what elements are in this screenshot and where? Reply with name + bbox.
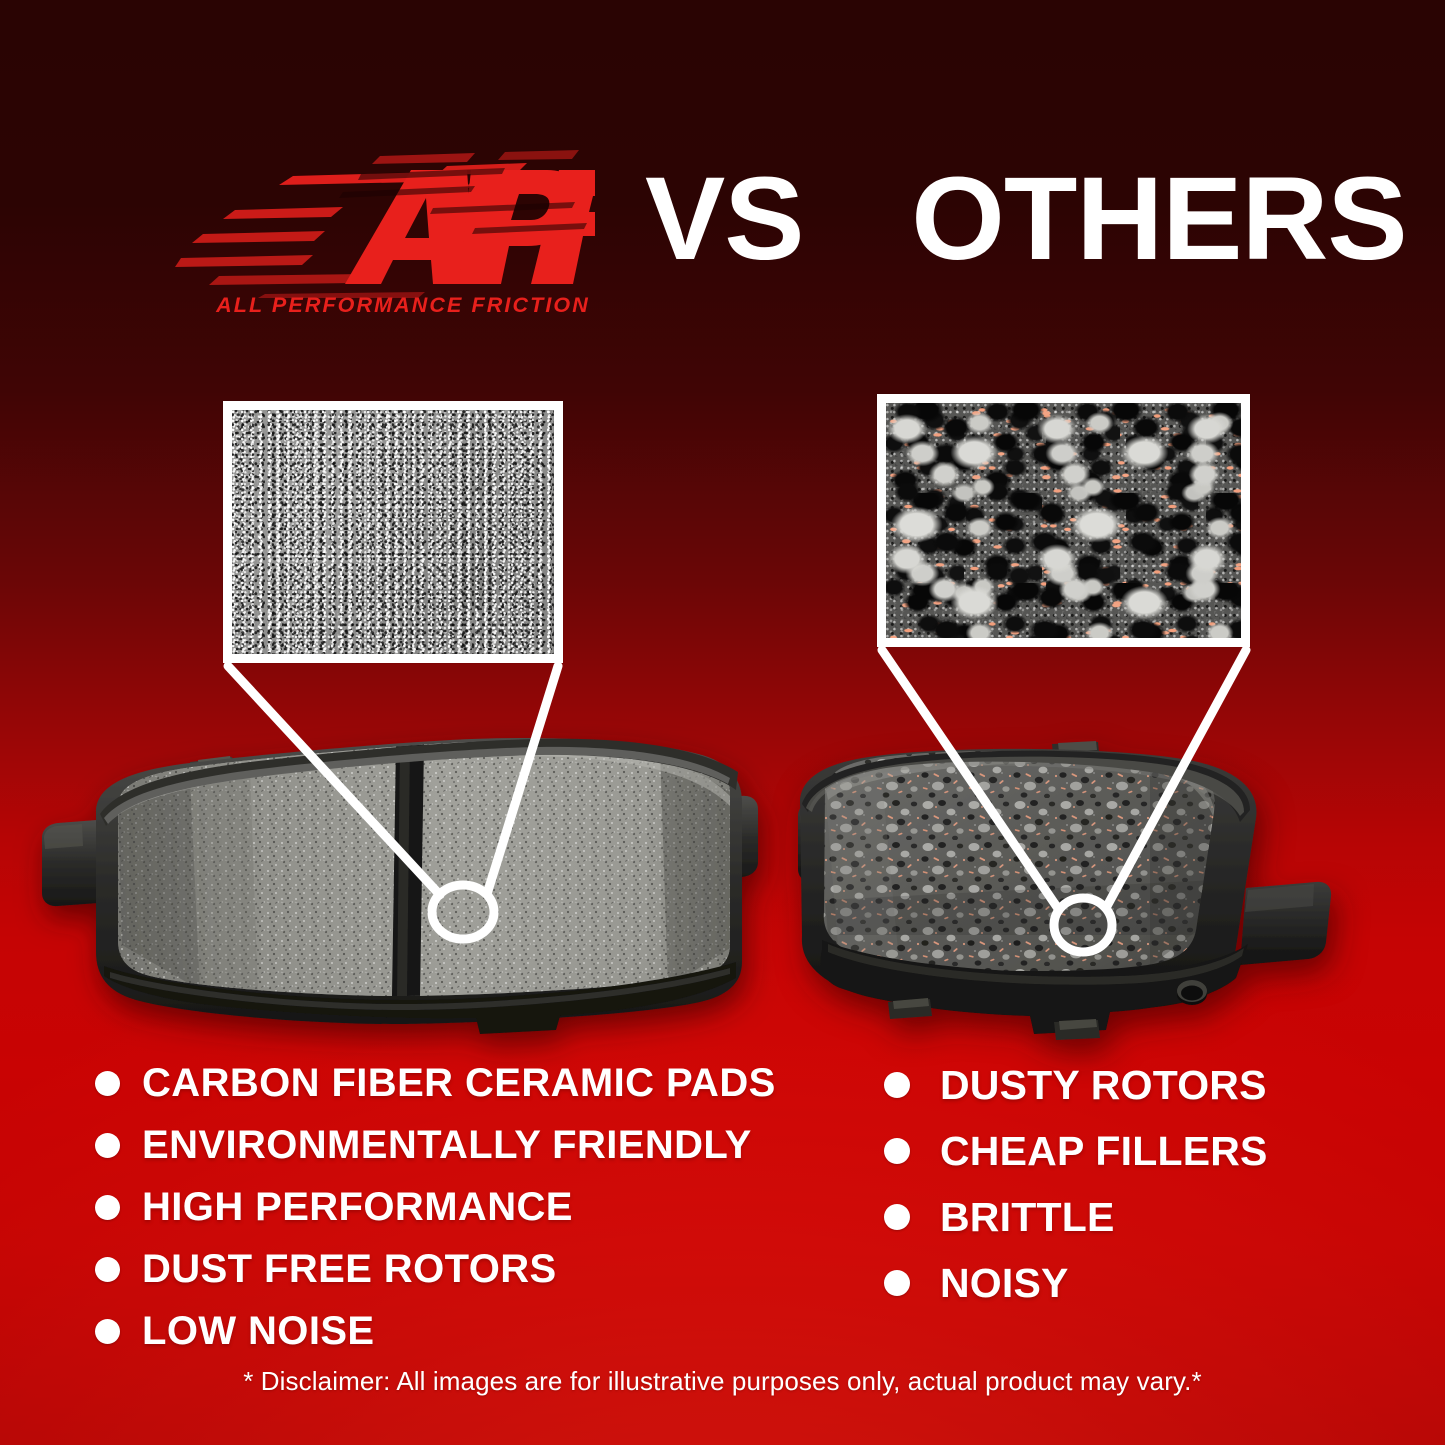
- bullet-dot-icon: [884, 1270, 910, 1296]
- list-item: DUSTY ROTORS: [884, 1052, 1384, 1118]
- bullet-dot-icon: [95, 1195, 120, 1220]
- feature-label: LOW NOISE: [142, 1310, 375, 1352]
- feature-label: ENVIRONMENTALLY FRIENDLY: [142, 1124, 752, 1166]
- competitor-brake-pad: [798, 740, 1331, 1040]
- list-item: CARBON FIBER CERAMIC PADS: [95, 1052, 835, 1114]
- apf-feature-list: CARBON FIBER CERAMIC PADS ENVIRONMENTALL…: [95, 1052, 835, 1362]
- feature-label: BRITTLE: [940, 1196, 1115, 1238]
- apf-brake-pad: [42, 735, 758, 1034]
- feature-label: NOISY: [940, 1262, 1069, 1304]
- others-feature-list: DUSTY ROTORS CHEAP FILLERS BRITTLE NOISY: [884, 1052, 1384, 1316]
- bullet-dot-icon: [95, 1319, 120, 1344]
- list-item: LOW NOISE: [95, 1300, 835, 1362]
- disclaimer-text: * Disclaimer: All images are for illustr…: [0, 1366, 1445, 1397]
- comparison-infographic: ALL PERFORMANCE FRICTION VS OTHERS: [0, 0, 1445, 1445]
- bullet-dot-icon: [884, 1204, 910, 1230]
- feature-label: CARBON FIBER CERAMIC PADS: [142, 1062, 776, 1104]
- feature-label: CHEAP FILLERS: [940, 1130, 1268, 1172]
- feature-label: DUST FREE ROTORS: [142, 1248, 557, 1290]
- feature-label: HIGH PERFORMANCE: [142, 1186, 573, 1228]
- list-item: CHEAP FILLERS: [884, 1118, 1384, 1184]
- bullet-dot-icon: [884, 1072, 910, 1098]
- bullet-dot-icon: [95, 1257, 120, 1282]
- bullet-dot-icon: [884, 1138, 910, 1164]
- list-item: NOISY: [884, 1250, 1384, 1316]
- bullet-dot-icon: [95, 1133, 120, 1158]
- list-item: DUST FREE ROTORS: [95, 1238, 835, 1300]
- bullet-dot-icon: [95, 1071, 120, 1096]
- list-item: ENVIRONMENTALLY FRIENDLY: [95, 1114, 835, 1176]
- list-item: BRITTLE: [884, 1184, 1384, 1250]
- list-item: HIGH PERFORMANCE: [95, 1176, 835, 1238]
- feature-label: DUSTY ROTORS: [940, 1064, 1267, 1106]
